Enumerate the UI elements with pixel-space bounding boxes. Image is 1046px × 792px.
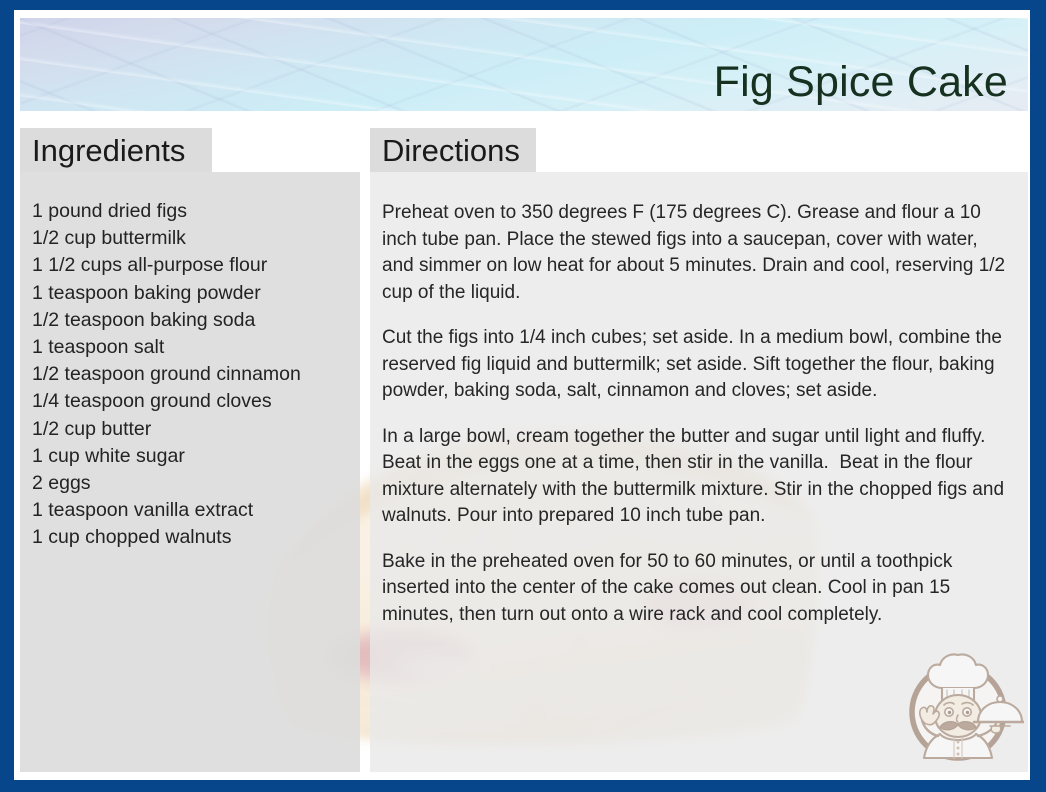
recipe-card: Fig Spice Cake [0,0,1046,792]
ingredients-list: 1 pound dried figs 1/2 cup buttermilk 1 … [20,188,368,552]
list-item: 1 teaspoon salt [32,334,358,361]
list-item: 1/2 teaspoon ground cinnamon [32,361,358,388]
recipe-card-inner: Fig Spice Cake [14,10,1030,780]
direction-paragraph: Preheat oven to 350 degrees F (175 degre… [382,200,1014,306]
list-item: 1 1/2 cups all-purpose flour [32,252,358,279]
title-banner: Fig Spice Cake [20,18,1028,111]
list-item: 1 pound dried figs [32,198,358,225]
list-item: 1 teaspoon vanilla extract [32,497,358,524]
list-item: 1/2 cup butter [32,416,358,443]
list-item: 1/2 cup buttermilk [32,225,358,252]
direction-paragraph: In a large bowl, cream together the butt… [382,424,1014,530]
page-title: Fig Spice Cake [714,60,1008,105]
list-item: 1/4 teaspoon ground cloves [32,388,358,415]
list-item: 2 eggs [32,470,358,497]
list-item: 1 cup white sugar [32,443,358,470]
direction-paragraph: Bake in the preheated oven for 50 to 60 … [382,549,1014,629]
list-item: 1/2 teaspoon baking soda [32,307,358,334]
list-item: 1 teaspoon baking powder [32,280,358,307]
directions-tab: Directions [370,128,536,172]
ingredients-tab: Ingredients [20,128,212,172]
directions-heading: Directions [382,135,520,166]
list-item: 1 cup chopped walnuts [32,524,358,551]
directions-body: Preheat oven to 350 degrees F (175 degre… [370,188,1028,647]
ingredients-heading: Ingredients [32,135,185,166]
direction-paragraph: Cut the figs into 1/4 inch cubes; set as… [382,325,1014,405]
